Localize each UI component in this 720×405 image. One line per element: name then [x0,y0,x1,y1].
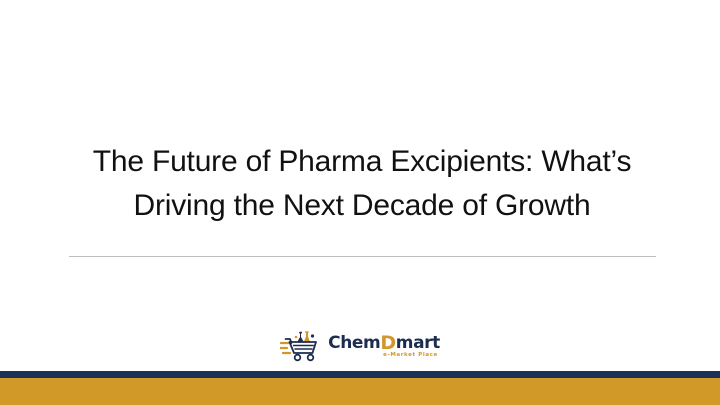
page-title: The Future of Pharma Excipients: What’s … [69,140,655,228]
navy-accent-band [0,371,720,378]
brand-logo: ChemDmart e-Market Place [0,330,720,362]
logo-wordmark: ChemDmart e-Market Place [328,333,440,359]
logo-lockup: ChemDmart e-Market Place [280,330,440,362]
presentation-slide: The Future of Pharma Excipients: What’s … [0,0,720,405]
logo-tagline: e-Market Place [383,353,438,359]
title-divider [69,256,656,257]
logo-brand-suffix: mart [396,335,440,352]
logo-brand-accent: D [380,334,395,353]
logo-brand-prefix: Chem [328,335,380,352]
gold-accent-band [0,378,720,405]
title-line-2: Driving the Next Decade of Growth [69,184,655,228]
title-line-1: The Future of Pharma Excipients: What’s [69,140,655,184]
logo-brand-name: ChemDmart [328,333,440,352]
shopping-cart-icon [280,330,324,362]
